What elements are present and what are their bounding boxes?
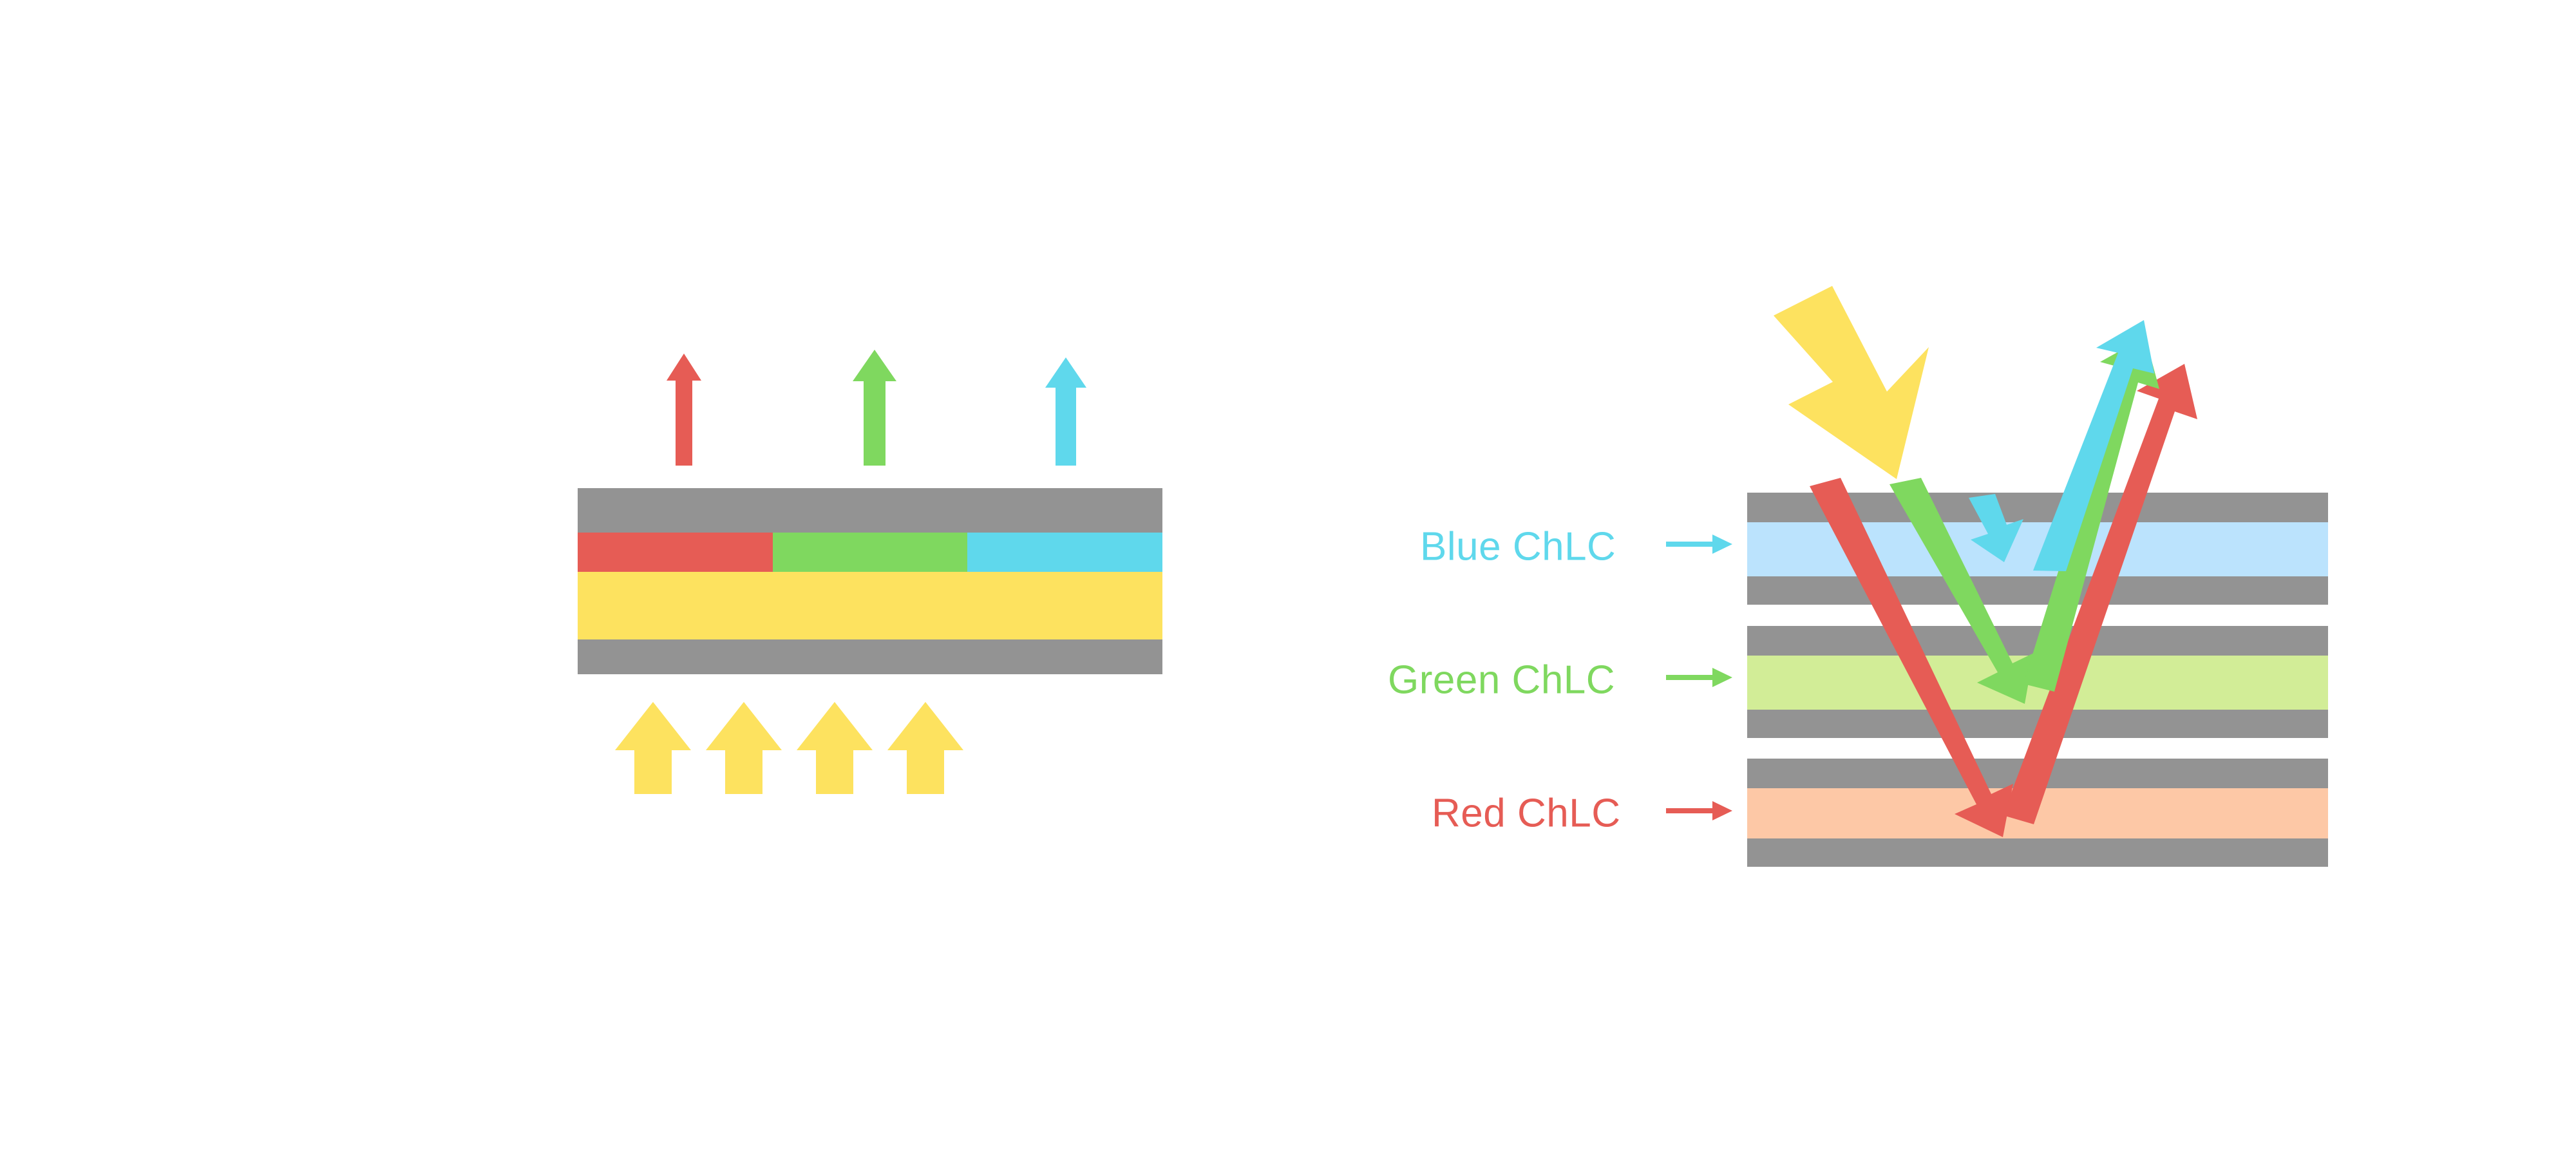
right-arrow-icon	[1666, 668, 1732, 687]
red-chlc-label-group: Red ChLC	[1432, 791, 1732, 835]
red-cell-bottom-electrode	[1747, 838, 2328, 867]
right-arrow-icon	[1666, 801, 1732, 820]
green-chlc-label: Green ChLC	[1388, 657, 1615, 702]
incident-white-light-arrow	[1774, 286, 1929, 479]
blue-chlc-label: Blue ChLC	[1420, 524, 1616, 569]
diagram-canvas: Blue ChLC Green ChLC Red ChLC	[0, 0, 2576, 1154]
green-chlc-label-group: Green ChLC	[1388, 657, 1732, 702]
right-panel-svg: Blue ChLC Green ChLC Red ChLC	[0, 0, 2576, 1154]
red-chlc-label: Red ChLC	[1432, 791, 1620, 835]
blue-cell-bottom-electrode	[1747, 576, 2328, 605]
blue-chlc-label-group: Blue ChLC	[1420, 524, 1732, 569]
right-arrow-icon	[1666, 534, 1732, 554]
right-panel-chlc-stack: Blue ChLC Green ChLC Red ChLC	[0, 0, 2576, 1154]
